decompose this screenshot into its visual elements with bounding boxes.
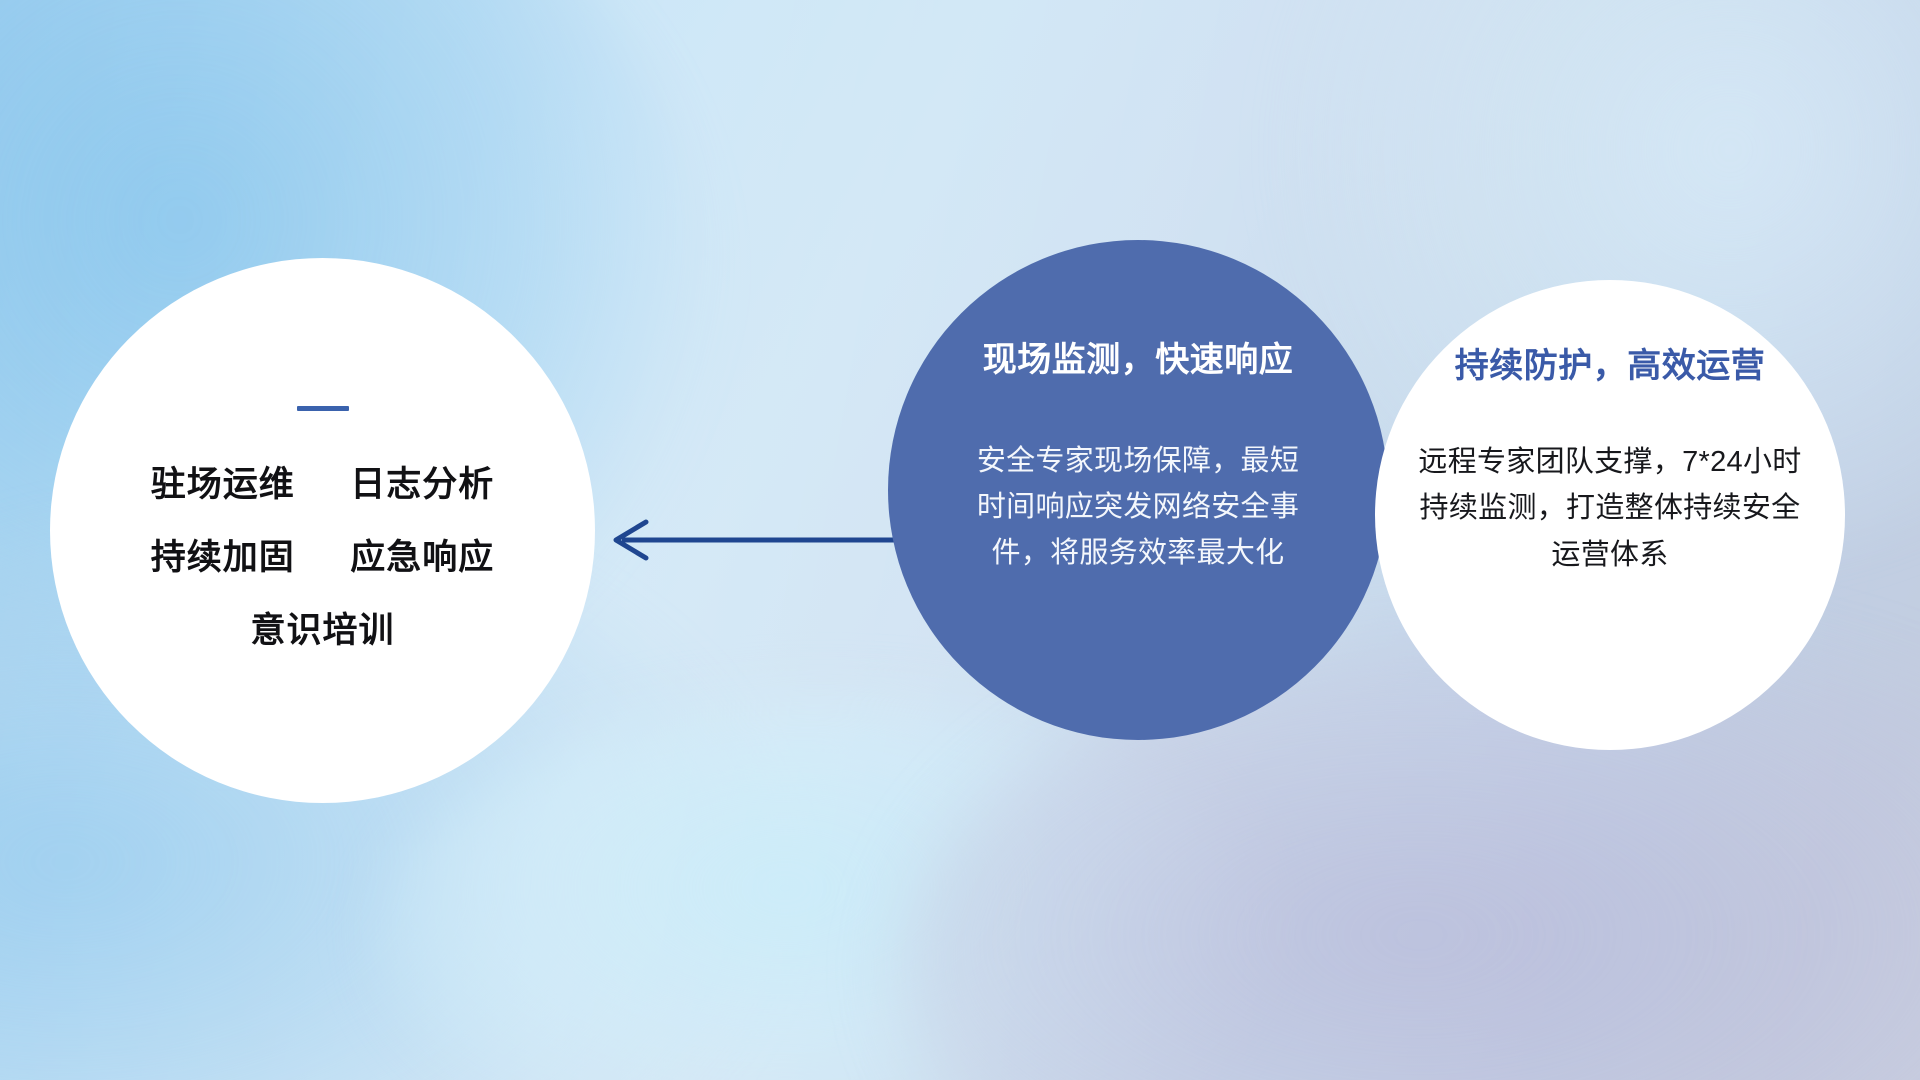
continuous-protection-title: 持续防护，高效运营: [1455, 338, 1766, 387]
slide-canvas: 驻场运维 日志分析 持续加固 应急响应 意识培训 现场监测，快速响应 安全专家现…: [0, 0, 1920, 1080]
divider-dash-icon: [297, 406, 349, 411]
capability-tag: 日志分析: [350, 465, 494, 504]
onsite-monitoring-circle: 现场监测，快速响应 安全专家现场保障，最短时间响应突发网络安全事件，将服务效率最…: [888, 240, 1388, 740]
onsite-monitoring-body: 安全专家现场保障，最短时间响应突发网络安全事件，将服务效率最大化: [973, 439, 1303, 576]
capability-tag: 驻场运维: [151, 465, 295, 504]
service-capability-circle: 驻场运维 日志分析 持续加固 应急响应 意识培训: [50, 258, 595, 803]
capability-tag: 意识培训: [250, 611, 394, 650]
continuous-protection-circle: 持续防护，高效运营 远程专家团队支撑，7*24小时持续监测，打造整体持续安全运营…: [1375, 280, 1845, 750]
capability-row: 驻场运维 日志分析: [50, 467, 595, 502]
capability-row: 持续加固 应急响应: [50, 540, 595, 575]
capability-tag: 持续加固: [151, 538, 295, 577]
left-circle-content: 驻场运维 日志分析 持续加固 应急响应 意识培训: [50, 406, 595, 648]
continuous-protection-body: 远程专家团队支撑，7*24小时持续监测，打造整体持续安全运营体系: [1410, 439, 1810, 578]
capability-row: 意识培训: [50, 613, 595, 648]
onsite-monitoring-title: 现场监测，快速响应: [983, 332, 1294, 381]
capability-tag: 应急响应: [350, 538, 494, 577]
arrow-left-icon: [590, 505, 920, 575]
